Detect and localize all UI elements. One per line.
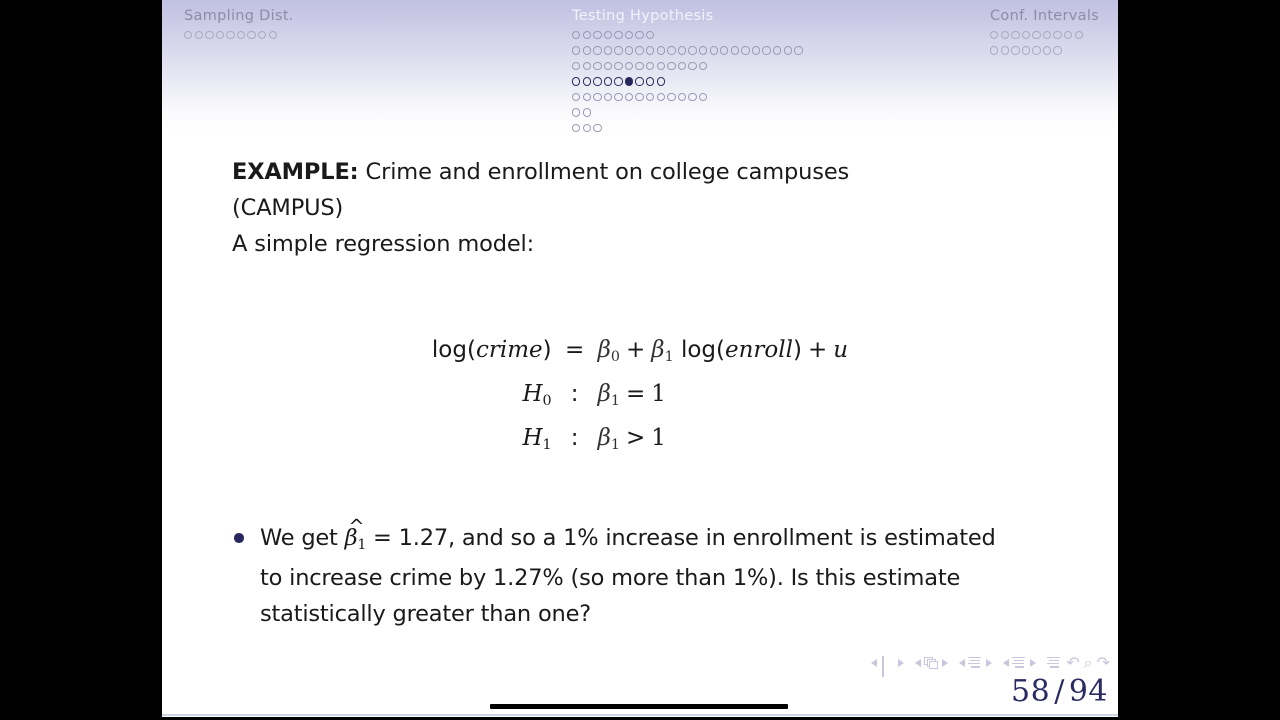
equation-row-h0: H0 : β1=1 (432, 372, 848, 416)
nav-dot[interactable] (614, 46, 622, 54)
nav-dot[interactable] (583, 62, 591, 70)
nav-dot[interactable] (1011, 46, 1019, 54)
example-label: EXAMPLE: (232, 159, 359, 185)
equation-lhs: H1 (432, 416, 552, 460)
nav-dot[interactable] (593, 62, 601, 70)
prev-frame-arrow-icon[interactable] (871, 659, 877, 667)
nav-dot[interactable] (1011, 31, 1019, 39)
nav-dot[interactable] (646, 62, 654, 70)
bottom-divider (162, 714, 1118, 716)
nav-dot[interactable] (237, 31, 245, 39)
nav-dot[interactable] (710, 46, 718, 54)
nav-dot[interactable] (184, 31, 192, 39)
frame-nav-group[interactable] (871, 657, 904, 670)
nav-dot[interactable] (657, 93, 665, 101)
nav-dot[interactable] (646, 77, 654, 85)
equation-row-h1: H1 : β1>1 (432, 416, 848, 460)
nav-dot[interactable] (604, 31, 612, 39)
nav-dot[interactable] (614, 62, 622, 70)
nav-dot[interactable] (720, 46, 728, 54)
equation-row-model: log(crime) = β0+β1 log(enroll)+u (432, 328, 848, 372)
stack-icon[interactable] (924, 657, 939, 670)
nav-dot[interactable] (572, 31, 580, 39)
nav-section-testing-hypothesis[interactable]: Testing Hypothesis (572, 8, 803, 134)
nav-dot[interactable] (572, 108, 580, 116)
nav-dot[interactable] (635, 93, 643, 101)
nav-section-title: Testing Hypothesis (572, 8, 803, 25)
nav-dot[interactable] (667, 93, 675, 101)
nav-dot[interactable] (614, 31, 622, 39)
nav-dot-row[interactable] (572, 123, 803, 134)
nav-dot[interactable] (625, 31, 633, 39)
nav-dot[interactable] (635, 77, 643, 85)
nav-dot-row[interactable] (572, 30, 803, 41)
nav-dot[interactable] (614, 77, 622, 85)
bullet-list: We get ^β1 = 1.27, and so a 1% increase … (162, 520, 1118, 633)
nav-dot[interactable] (572, 77, 580, 85)
nav-dot[interactable] (604, 62, 612, 70)
nav-dot[interactable] (604, 93, 612, 101)
nav-dot[interactable] (1053, 31, 1061, 39)
equation-table: log(crime) = β0+β1 log(enroll)+u H0 : (432, 328, 848, 460)
prev-section-arrow-icon[interactable] (959, 659, 965, 667)
nav-dot[interactable] (990, 31, 998, 39)
nav-dot[interactable] (1001, 31, 1009, 39)
nav-dot[interactable] (604, 46, 612, 54)
nav-dot[interactable] (688, 93, 696, 101)
progress-bar[interactable] (490, 704, 788, 709)
nav-dot[interactable] (688, 46, 696, 54)
nav-dot-row[interactable] (572, 45, 803, 56)
page-number: 58/94 (1011, 674, 1108, 709)
nav-dot[interactable] (583, 46, 591, 54)
nav-dot[interactable] (593, 93, 601, 101)
nav-dot[interactable] (1043, 31, 1051, 39)
nav-dot[interactable] (699, 46, 707, 54)
nav-dot[interactable] (583, 93, 591, 101)
nav-dot[interactable] (1032, 46, 1040, 54)
nav-section-sampling-dist[interactable]: Sampling Dist. (184, 8, 294, 41)
example-paragraph: EXAMPLE: Crime and enrollment on college… (232, 154, 952, 262)
nav-dot[interactable] (741, 46, 749, 54)
equation-block: log(crime) = β0+β1 log(enroll)+u H0 : (162, 328, 1118, 460)
nav-dot[interactable] (583, 77, 591, 85)
beamer-navigation-symbols[interactable]: ↶ ⌕ ↷ (860, 655, 1110, 671)
nav-dot-current[interactable] (625, 77, 633, 85)
nav-dot[interactable] (657, 77, 665, 85)
search-icon[interactable]: ⌕ (1084, 655, 1093, 671)
list-item: We get ^β1 = 1.27, and so a 1% increase … (260, 520, 1020, 633)
nav-dot[interactable] (205, 31, 213, 39)
nav-dot[interactable] (1053, 46, 1061, 54)
equation-lhs: H0 (432, 372, 552, 416)
undo-icon[interactable]: ↶ (1066, 655, 1079, 671)
nav-dot[interactable] (593, 31, 601, 39)
nav-dot[interactable] (269, 31, 277, 39)
bullet-point-icon (234, 533, 244, 543)
section-nav-group[interactable] (959, 657, 992, 670)
nav-dot[interactable] (667, 62, 675, 70)
nav-dot[interactable] (1075, 31, 1083, 39)
nav-dot[interactable] (657, 46, 665, 54)
nav-dot[interactable] (572, 46, 580, 54)
next-presentation-arrow-icon[interactable] (1030, 659, 1036, 667)
nav-dot[interactable] (688, 62, 696, 70)
slide-canvas: Sampling Dist. Testing Hypothesis Conf. … (162, 0, 1118, 717)
nav-dot[interactable] (572, 124, 580, 132)
nav-dot[interactable] (604, 77, 612, 85)
nav-dot[interactable] (1022, 31, 1030, 39)
nav-dot[interactable] (572, 93, 580, 101)
page-total: 94 (1069, 674, 1108, 709)
nav-dot[interactable] (646, 46, 654, 54)
nav-dot[interactable] (226, 31, 234, 39)
prev-subsection-arrow-icon[interactable] (915, 659, 921, 667)
nav-dot[interactable] (1022, 46, 1030, 54)
nav-dot[interactable] (752, 46, 760, 54)
equation-relation: : (552, 416, 598, 460)
lines-icon[interactable] (1012, 657, 1027, 670)
nav-dot[interactable] (678, 93, 686, 101)
redo-icon[interactable]: ↷ (1097, 655, 1110, 671)
nav-dot[interactable] (625, 93, 633, 101)
nav-section-title: Conf. Intervals (990, 8, 1099, 25)
next-section-arrow-icon[interactable] (986, 659, 992, 667)
nav-dot[interactable] (593, 124, 601, 132)
nav-dot[interactable] (990, 46, 998, 54)
subsection-nav-group[interactable] (915, 657, 948, 670)
lines-icon[interactable] (968, 657, 983, 670)
square-icon[interactable] (880, 657, 895, 670)
nav-dot-row[interactable] (990, 45, 1099, 56)
equation-rhs: β1>1 (598, 416, 848, 460)
appendix-nav-group[interactable] (1047, 657, 1062, 670)
page-separator: / (1050, 674, 1069, 709)
equation-rhs: β1=1 (598, 372, 848, 416)
nav-dot[interactable] (195, 31, 203, 39)
next-subsection-arrow-icon[interactable] (942, 659, 948, 667)
nav-dot-row-current[interactable] (572, 76, 803, 87)
nav-dot[interactable] (731, 46, 739, 54)
nav-dot[interactable] (247, 31, 255, 39)
nav-section-conf-intervals[interactable]: Conf. Intervals (990, 8, 1099, 56)
nav-dot[interactable] (583, 124, 591, 132)
nav-dot[interactable] (1064, 31, 1072, 39)
nav-dot[interactable] (625, 46, 633, 54)
nav-dot[interactable] (593, 46, 601, 54)
equation-lhs: log(crime) (432, 328, 552, 372)
nav-dot[interactable] (635, 46, 643, 54)
nav-dot[interactable] (583, 108, 591, 116)
nav-dot[interactable] (699, 93, 707, 101)
nav-dot[interactable] (572, 62, 580, 70)
nav-dot[interactable] (635, 31, 643, 39)
nav-dot[interactable] (583, 31, 591, 39)
nav-dot[interactable] (646, 31, 654, 39)
presentation-nav-group[interactable] (1003, 657, 1036, 670)
nav-dot[interactable] (1032, 31, 1040, 39)
nav-section-title: Sampling Dist. (184, 8, 294, 25)
nav-dot-row[interactable] (572, 92, 803, 103)
nav-dot[interactable] (258, 31, 266, 39)
equation-relation: = (552, 328, 598, 372)
document-lines-icon[interactable] (1047, 657, 1062, 670)
nav-dot-row[interactable] (990, 30, 1099, 41)
nav-dot[interactable] (773, 46, 781, 54)
nav-dot[interactable] (646, 93, 654, 101)
nav-dot[interactable] (216, 31, 224, 39)
nav-dot[interactable] (762, 46, 770, 54)
equation-relation: : (552, 372, 598, 416)
bullet-text-part-2: = 1.27, and so a 1% increase in enrollme… (260, 525, 996, 627)
beamer-headline: Sampling Dist. Testing Hypothesis Conf. … (162, 0, 1118, 132)
nav-dot[interactable] (784, 46, 792, 54)
nav-dot-row[interactable] (184, 30, 294, 41)
beta-hat-symbol: ^β1 (345, 520, 366, 560)
model-intro-text: A simple regression model: (232, 231, 534, 257)
nav-dot[interactable] (614, 93, 622, 101)
page-current: 58 (1011, 674, 1050, 709)
prev-presentation-arrow-icon[interactable] (1003, 659, 1009, 667)
presentation-viewer: Sampling Dist. Testing Hypothesis Conf. … (0, 0, 1280, 720)
nav-dot[interactable] (699, 62, 707, 70)
nav-dot[interactable] (625, 62, 633, 70)
bullet-text-part-1: We get (260, 525, 345, 551)
nav-dot[interactable] (1043, 46, 1051, 54)
equation-rhs: β0+β1 log(enroll)+u (598, 328, 848, 372)
nav-dot[interactable] (593, 77, 601, 85)
nav-dot[interactable] (678, 62, 686, 70)
next-frame-arrow-icon[interactable] (898, 659, 904, 667)
nav-dot[interactable] (635, 62, 643, 70)
nav-dot-row[interactable] (572, 107, 803, 118)
nav-dot[interactable] (678, 46, 686, 54)
nav-dot[interactable] (667, 46, 675, 54)
nav-dot[interactable] (794, 46, 802, 54)
nav-dot[interactable] (1001, 46, 1009, 54)
nav-dot[interactable] (657, 62, 665, 70)
nav-dot-row[interactable] (572, 61, 803, 72)
